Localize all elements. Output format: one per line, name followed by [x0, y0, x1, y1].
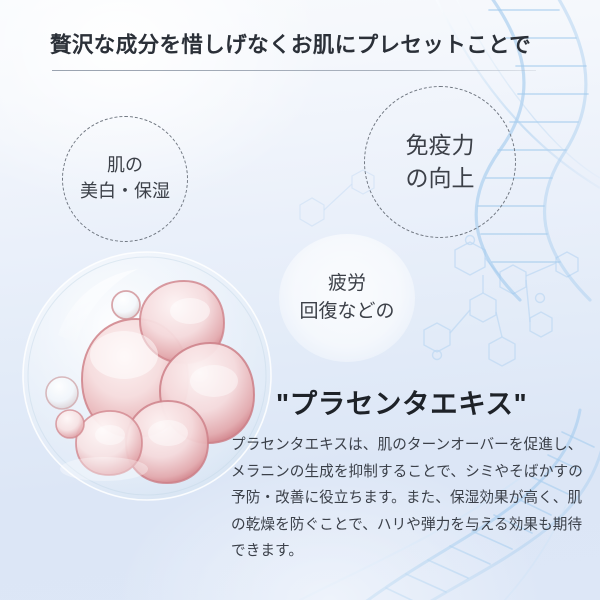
- description-line: メラニンの生成を抑制することで、シミやそばかすの: [231, 459, 583, 486]
- benefit-label-line2: 美白・保湿: [80, 179, 170, 205]
- description-line: 予防・改善に役立ちます。また、保湿効果が高く、肌: [231, 485, 583, 512]
- sphere-bottom-glow: [60, 457, 148, 481]
- page-title: 贅沢な成分を惜しげなくお肌にプレセットことで: [50, 28, 560, 59]
- benefit-label-line2: 回復などの: [299, 298, 394, 326]
- headline-divider: [52, 70, 536, 71]
- benefit-circle-immunity: 免疫力 の向上: [364, 86, 516, 238]
- molecule-secondary-icon: [300, 170, 374, 226]
- molecule-icon: [424, 236, 578, 367]
- infographic-poster: 贅沢な成分を惜しげなくお肌にプレセットことで 肌の 美白・保湿 免疫力 の向上 …: [0, 0, 600, 600]
- product-title: "プラセンタエキス": [276, 381, 527, 421]
- benefit-circle-skin-whitening: 肌の 美白・保湿: [62, 116, 188, 242]
- benefit-circle-fatigue-recovery: 疲労 回復などの: [279, 234, 415, 362]
- benefit-label-line1: 疲労: [328, 270, 366, 298]
- benefit-label-line1: 肌の: [107, 153, 143, 179]
- description-line: できます。: [231, 538, 583, 565]
- product-description: プラセンタエキスは、肌のターンオーバーを促進し、 メラニンの生成を抑制することで…: [231, 432, 583, 565]
- description-line: の乾燥を防ぐことで、ハリや弾力を与える効果も期待: [231, 512, 583, 539]
- benefit-label-line1: 免疫力: [406, 129, 475, 162]
- description-line: プラセンタエキスは、肌のターンオーバーを促進し、: [231, 432, 583, 459]
- benefit-label-line2: の向上: [406, 162, 475, 195]
